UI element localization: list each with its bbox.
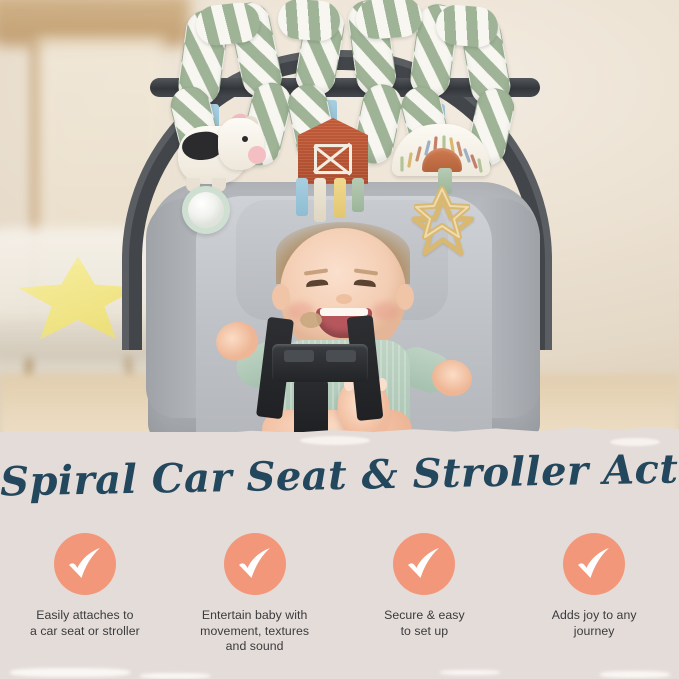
feature-caption-line: Adds joy to any	[552, 608, 637, 624]
brush-fleck	[140, 673, 210, 679]
baby-cheek-right	[372, 302, 398, 320]
check-badge-4	[563, 533, 625, 595]
barn-toy	[298, 118, 368, 184]
feature-caption-line: to set up	[384, 624, 465, 640]
feature-list: Easily attaches to a car seat or strolle…	[0, 533, 679, 655]
check-badge-2	[224, 533, 286, 595]
check-icon	[403, 543, 445, 585]
baby-ear-left	[272, 284, 290, 310]
feature-caption-line: movement, textures	[200, 624, 309, 640]
product-listing-image: Spiral Car Seat & Stroller Activity Toy …	[0, 0, 679, 679]
feature-caption-line: journey	[552, 624, 637, 640]
barn-tag-cream	[314, 178, 326, 222]
check-badge-1	[54, 533, 116, 595]
feature-caption-4: Adds joy to any journey	[552, 608, 637, 639]
feature-caption-line: Easily attaches to	[30, 608, 140, 624]
check-badge-3	[393, 533, 455, 595]
baby-mirror-glass	[188, 192, 224, 228]
feature-caption-line: Entertain baby with	[200, 608, 309, 624]
panel-brush-fleck	[300, 436, 370, 445]
feature-item-1: Easily attaches to a car seat or strolle…	[0, 533, 170, 655]
baby-ear-right	[396, 284, 414, 310]
panel-bottom-brush-strokes	[0, 653, 679, 679]
spiral-crest-2	[277, 0, 342, 42]
spiral-crest-4	[434, 3, 499, 48]
feature-item-3: Secure & easy to set up	[340, 533, 510, 655]
brush-fleck	[440, 670, 500, 675]
check-icon	[64, 543, 106, 585]
harness-buckle-tab-right	[326, 350, 356, 362]
cow-snout	[248, 146, 266, 164]
cow-eye	[242, 136, 248, 142]
cow-plush-toy	[178, 118, 264, 194]
feature-caption-line: Secure & easy	[384, 608, 465, 624]
check-icon	[573, 543, 615, 585]
panel-brush-fleck	[610, 438, 660, 446]
barn-tag-sage	[352, 178, 364, 212]
check-icon	[234, 543, 276, 585]
harness-crotch-strap	[294, 380, 328, 438]
harness-chest-clip	[300, 312, 322, 328]
feature-caption-1: Easily attaches to a car seat or strolle…	[30, 608, 140, 639]
feature-caption-2: Entertain baby with movement, textures a…	[200, 608, 309, 655]
brush-fleck	[600, 671, 670, 678]
product-photo	[0, 0, 679, 470]
star-teether-icon	[414, 186, 470, 240]
feature-item-2: Entertain baby with movement, textures a…	[170, 533, 340, 655]
feature-caption-line: a car seat or stroller	[30, 624, 140, 640]
baby-nose	[336, 294, 352, 304]
feature-caption-3: Secure & easy to set up	[384, 608, 465, 639]
feature-item-4: Adds joy to any journey	[509, 533, 679, 655]
brush-fleck	[10, 668, 130, 677]
barn-tag-blue	[296, 178, 308, 216]
barn-tag-yellow	[334, 178, 346, 218]
baby-teeth	[320, 308, 368, 316]
harness-buckle-tab-left	[284, 350, 314, 362]
